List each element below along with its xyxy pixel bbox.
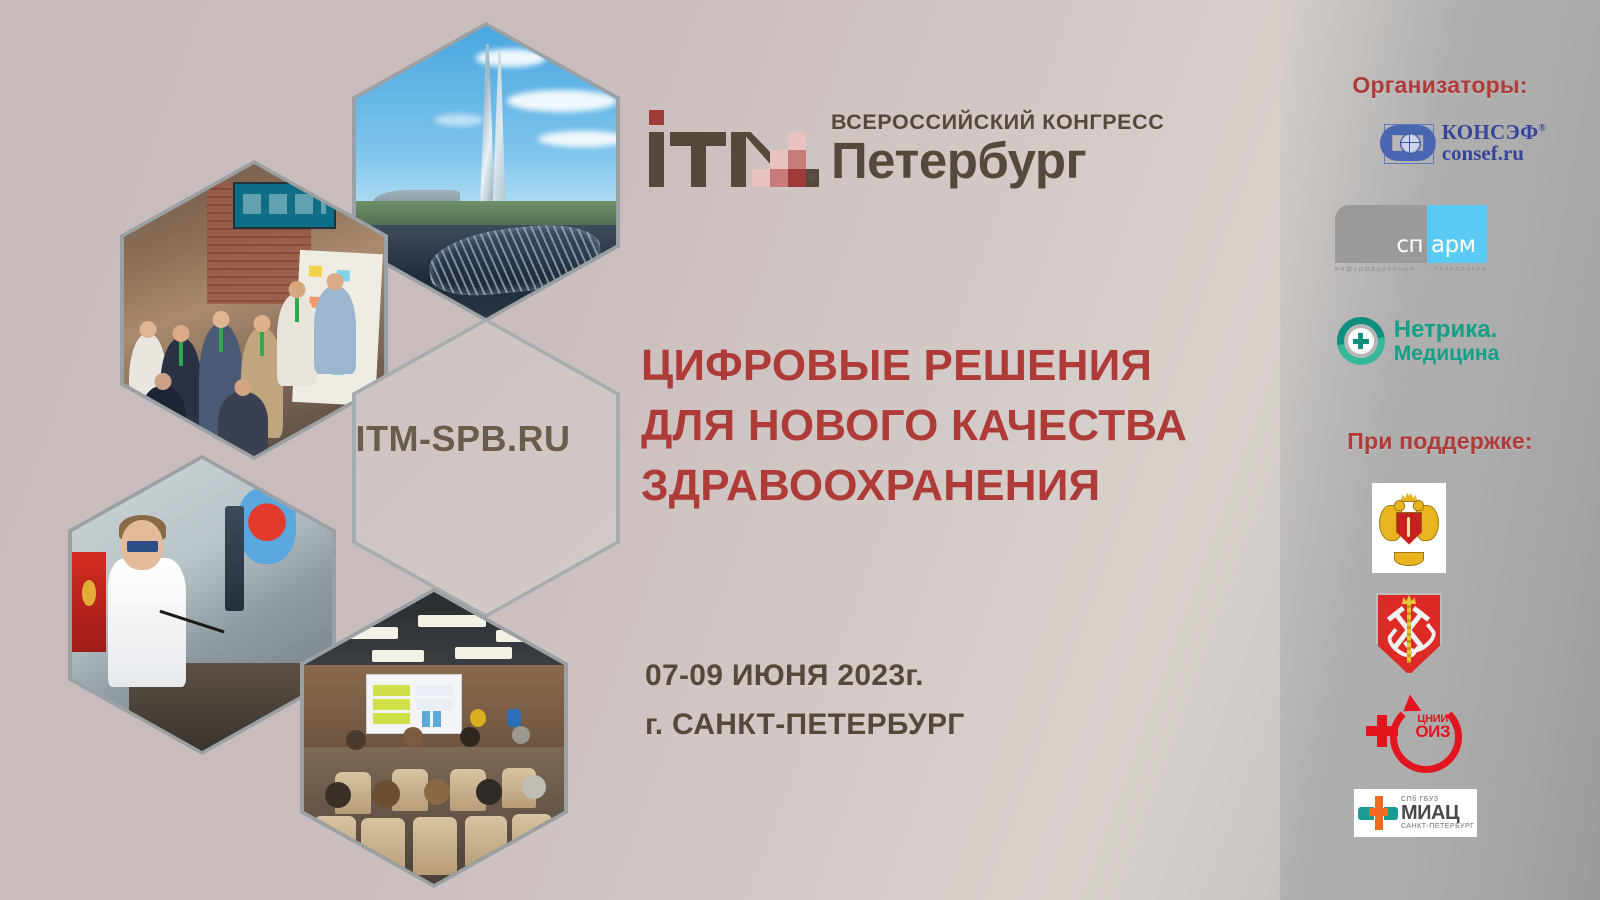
itm-logo-icon: ® <box>645 108 827 190</box>
headline-line-1: ЦИФРОВЫЕ РЕШЕНИЯ <box>641 336 1281 396</box>
conference-hall-photo <box>304 592 564 884</box>
konsef-logo[interactable]: КОНСЭФ® consef.ru <box>1318 112 1600 174</box>
headline-line-3: ЗДРАВООХРАНЕНИЯ <box>641 456 1281 516</box>
headline-line-2: ДЛЯ НОВОГО КАЧЕСТВА <box>641 396 1281 456</box>
sparm-mark-right: арм <box>1427 205 1487 263</box>
site-url-text[interactable]: ITM-SPB.RU <box>343 418 583 460</box>
miac-spb-logo[interactable]: СПб ГБУЗ МИАЦ САНКТ-ПЕТЕРБУРГ <box>1353 788 1478 838</box>
miac-line2: МИАЦ <box>1401 803 1474 823</box>
brand-title: Петербург <box>831 136 1164 186</box>
konsef-url: consef.ru <box>1442 143 1547 164</box>
double-headed-eagle-icon <box>1372 483 1446 573</box>
speaker-podium-hexagon <box>68 455 336 755</box>
miac-cross-icon <box>1358 794 1398 832</box>
konsef-registered-icon: ® <box>1538 123 1546 134</box>
registered-mark-icon: ® <box>808 172 815 183</box>
minzdrav-emblem-logo[interactable] <box>1371 482 1447 574</box>
conference-hall-hexagon <box>300 588 568 888</box>
page-title: ЦИФРОВЫЕ РЕШЕНИЯ ДЛЯ НОВОГО КАЧЕСТВА ЗДР… <box>641 336 1281 515</box>
sparm-text-sp: сп <box>1392 234 1427 263</box>
cniioiz-logo[interactable]: ЦНИИ ОИЗ <box>1363 694 1463 766</box>
cniioiz-line2: ОИЗ <box>1415 724 1450 740</box>
sparm-text-arm: арм <box>1427 234 1480 263</box>
poster-canvas: ITM-SPB.RU ® ВСЕРОССИЙСКИЙ КОНГРЕСС Пете… <box>0 0 1600 900</box>
netrika-subname: Медицина <box>1394 343 1500 364</box>
miac-line3: САНКТ-ПЕТЕРБУРГ <box>1401 823 1474 830</box>
cniioiz-cross-icon <box>1366 715 1398 747</box>
netrika-name: Нетрика. <box>1394 318 1500 342</box>
lakhta-center-hexagon <box>352 22 620 322</box>
event-dates: 07-09 ИЮНЯ 2023г. <box>645 652 965 701</box>
organizers-heading: Организаторы: <box>1280 72 1600 99</box>
expo-networking-hexagon <box>120 160 388 460</box>
spb-coat-of-arms-logo[interactable] <box>1374 592 1444 676</box>
netrika-medicina-logo[interactable]: Нетрика. Медицина <box>1312 310 1522 372</box>
site-url-hexagon <box>352 318 620 618</box>
konsef-globe-icon <box>1380 121 1436 165</box>
sparm-sub-right: технологии <box>1435 266 1487 273</box>
itm-brand-logo: ® ВСЕРОССИЙСКИЙ КОНГРЕСС Петербург <box>645 108 1164 190</box>
sparm-mark-left: сп <box>1335 205 1427 263</box>
site-url-hexagon-fill <box>356 322 616 614</box>
netrika-cross-cycle-icon <box>1335 315 1387 367</box>
brand-subtitle: ВСЕРОССИЙСКИЙ КОНГРЕСС <box>831 112 1164 134</box>
supporters-heading: При поддержке: <box>1280 428 1600 455</box>
lakhta-photo <box>356 26 616 318</box>
sparm-logo[interactable]: сп арм информационные технологии <box>1331 198 1491 280</box>
crossed-anchors-scepter-icon <box>1376 593 1442 675</box>
expo-photo <box>124 164 384 456</box>
event-meta: 07-09 ИЮНЯ 2023г. г. САНКТ-ПЕТЕРБУРГ <box>645 652 965 749</box>
sparm-sub-left: информационные <box>1335 266 1416 273</box>
event-city: г. САНКТ-ПЕТЕРБУРГ <box>645 701 965 750</box>
speaker-photo <box>72 459 332 751</box>
